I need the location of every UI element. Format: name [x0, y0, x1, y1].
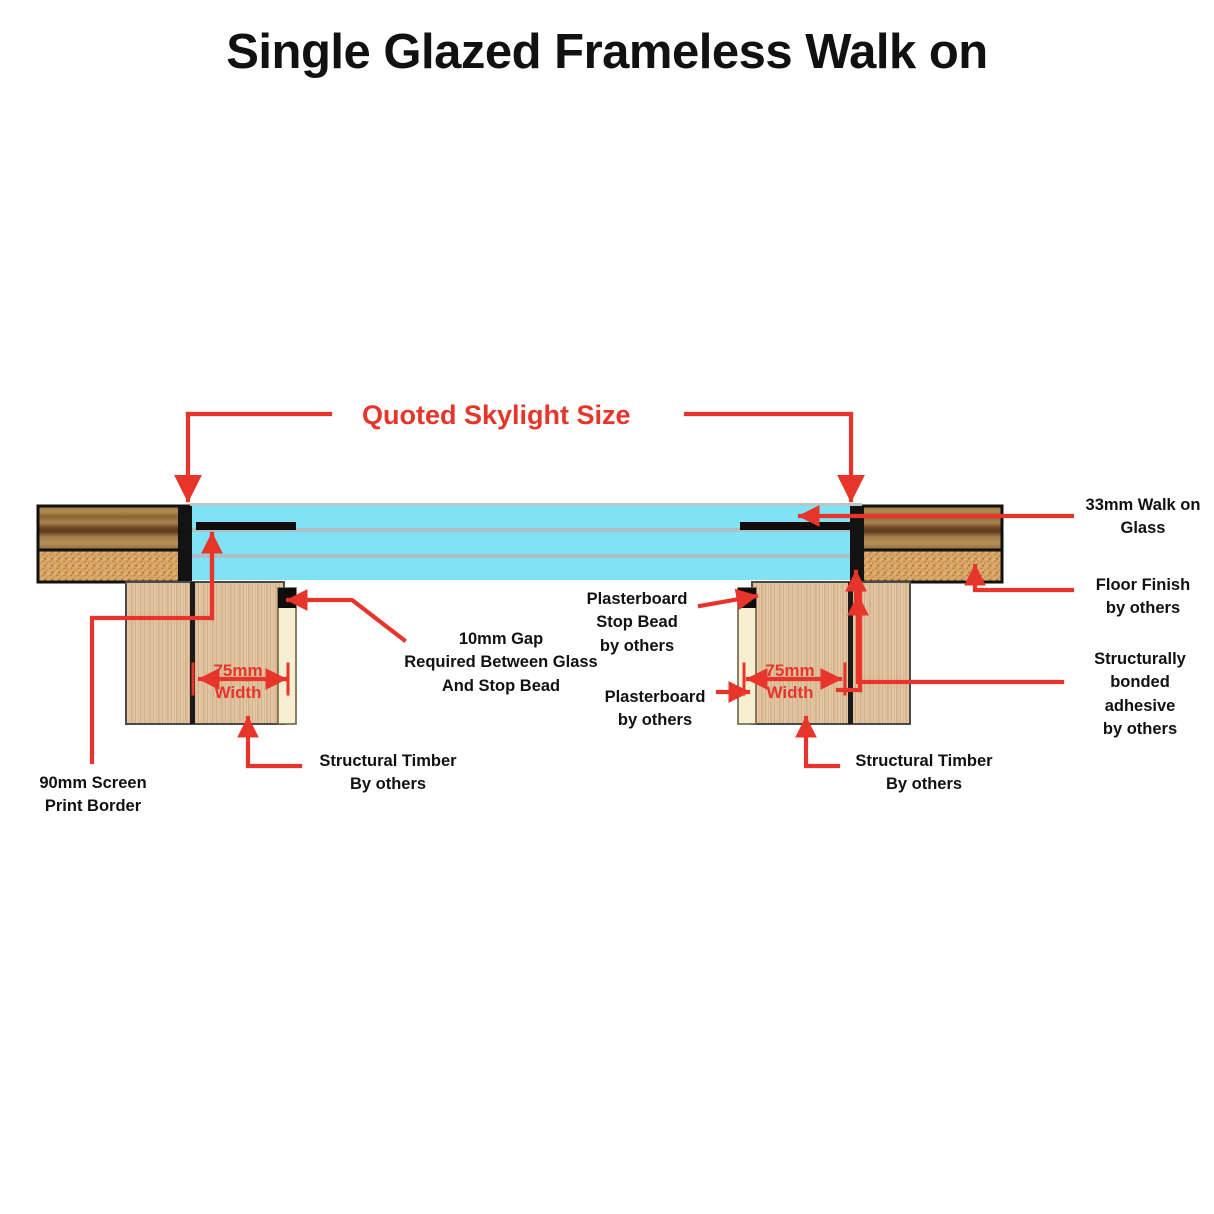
label-floor-finish: Floor Finish by others — [1076, 574, 1210, 621]
bonded-adhesive — [178, 506, 864, 584]
leader-floor-finish — [975, 566, 1072, 590]
leader-stop-bead — [700, 596, 756, 606]
label-screen-print-border: 90mm Screen Print Border — [18, 772, 168, 819]
label-stop-bead: Plasterboard Stop Bead by others — [566, 588, 708, 658]
label-structural-timber-left: Structural Timber By others — [304, 750, 472, 797]
label-plasterboard: Plasterboard by others — [590, 686, 720, 733]
leader-bonded-adhesive — [858, 596, 1062, 682]
leader-timber-right — [806, 718, 838, 766]
label-walk-on-glass: 33mm Walk on Glass — [1076, 494, 1210, 541]
quoted-skylight-size-label: Quoted Skylight Size — [362, 400, 631, 431]
label-structural-timber-right: Structural Timber By others — [840, 750, 1008, 797]
diagram-canvas: Single Glazed Frameless Walk on — [0, 0, 1214, 1214]
floor-buildup-right — [862, 506, 1002, 582]
floor-buildup-left — [38, 506, 190, 582]
page-title: Single Glazed Frameless Walk on — [0, 24, 1214, 80]
walk-on-glass-pane — [190, 503, 862, 580]
leader-screen-print-border — [92, 534, 212, 762]
leader-timber-left — [248, 718, 300, 766]
dimension-75mm-right: 75mm Width — [740, 660, 840, 704]
screen-print-border-band — [196, 522, 852, 530]
dimension-75mm-left: 75mm Width — [188, 660, 288, 704]
label-bonded-adhesive: Structurally bonded adhesive by others — [1068, 648, 1212, 742]
